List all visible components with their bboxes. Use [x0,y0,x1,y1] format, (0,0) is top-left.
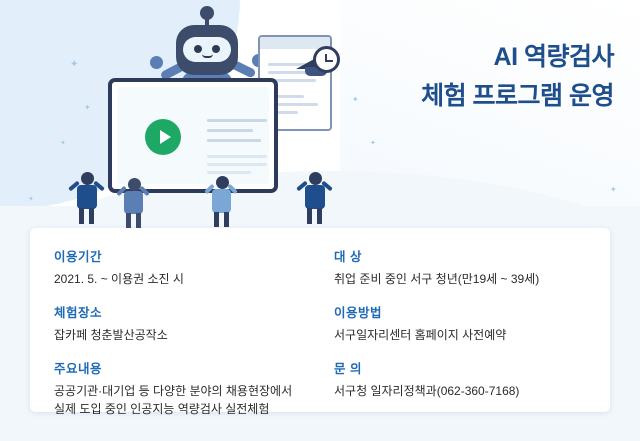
play-button-icon [145,119,181,155]
clock-icon [313,46,340,73]
info-value-line1: 서구일자리센터 홈페이지 사전예약 [334,328,506,342]
info-value-line1: 서구청 일자리정책과(062-360-7168) [334,384,519,398]
info-label: 체험장소 [54,302,320,321]
info-value: 2021. 5. ~ 이용권 소진 시 [54,270,320,288]
info-value-line1: 잡카페 청춘발산공작소 [54,328,168,342]
sparkle-icon: ✦ [352,96,359,104]
robot-visor [183,37,231,62]
info-column-right: 대 상 취업 준비 중인 서구 청년(만19세 ~ 39세) 이용방법 서구일자… [320,246,610,412]
info-block-content: 주요내용 공공기관·대기업 등 다양한 분야의 채용현장에서 실제 도입 중인 … [54,358,320,418]
info-value-line1: 2021. 5. ~ 이용권 소진 시 [54,272,184,286]
info-value-line1: 취업 준비 중인 서구 청년(만19세 ~ 39세) [334,272,539,286]
info-value: 취업 준비 중인 서구 청년(만19세 ~ 39세) [334,270,610,288]
info-label: 문 의 [334,358,610,377]
info-label: 대 상 [334,246,610,265]
tablet-screen [117,87,269,184]
tablet-text-line [207,163,267,166]
info-block-target: 대 상 취업 준비 중인 서구 청년(만19세 ~ 39세) [334,246,610,288]
poster-canvas: ✦ ✦ ✦ ✦ ✦ ✦ ✦ [0,0,640,441]
info-label: 이용방법 [334,302,610,321]
sparkle-icon: ✦ [370,140,376,147]
title-line-2: 체험 프로그램 운영 [421,77,614,116]
sparkle-icon: ✦ [70,60,78,70]
tablet-text-line [207,119,267,122]
info-block-period: 이용기간 2021. 5. ~ 이용권 소진 시 [54,246,320,288]
info-column-left: 이용기간 2021. 5. ~ 이용권 소진 시 체험장소 잡카페 청춘발산공작… [30,246,320,412]
info-card: 이용기간 2021. 5. ~ 이용권 소진 시 체험장소 잡카페 청춘발산공작… [30,228,610,412]
info-block-location: 체험장소 잡카페 청춘발산공작소 [54,302,320,344]
info-value: 잡카페 청춘발산공작소 [54,326,320,344]
info-block-contact: 문 의 서구청 일자리정책과(062-360-7168) [334,358,610,400]
info-label: 주요내용 [54,358,320,377]
sparkle-icon: ✦ [60,140,66,147]
sparkle-icon: ✦ [610,186,617,194]
robot-smile [202,54,213,58]
tablet-play-icon [108,78,278,193]
sparkle-icon: ✦ [28,196,34,203]
tablet-text-line [207,155,267,158]
info-block-howto: 이용방법 서구일자리센터 홈페이지 사전예약 [334,302,610,344]
tablet-text-line [207,139,261,142]
poster-title: AI 역량검사 체험 프로그램 운영 [421,38,614,116]
info-value-line2: 실제 도입 중인 인공지능 역량검사 실전체험 [54,400,320,418]
robot-eye-right [212,45,220,53]
info-value-line1: 공공기관·대기업 등 다양한 분야의 채용현장에서 [54,382,320,400]
title-line-1: AI 역량검사 [421,38,614,77]
info-value: 공공기관·대기업 등 다양한 분야의 채용현장에서 실제 도입 중인 인공지능 … [54,382,320,418]
info-value: 서구청 일자리정책과(062-360-7168) [334,382,610,400]
info-value: 서구일자리센터 홈페이지 사전예약 [334,326,610,344]
robot-hand-left [150,56,163,69]
tablet-text-line [207,129,253,132]
info-label: 이용기간 [54,246,320,265]
sparkle-icon: ✦ [84,104,91,112]
tablet-text-line [207,171,251,174]
robot-eye-left [194,45,202,53]
